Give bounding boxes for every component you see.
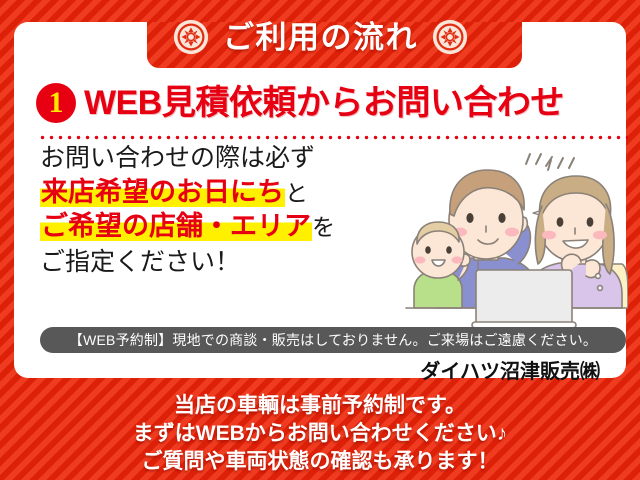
content-card: 1 WEB見積依頼からお問い合わせ お問い合わせの際は必ず 来店希望のお日にちと… (14, 22, 626, 378)
copy-line-3-highlight: ご希望の店舗・エリア (40, 211, 312, 241)
footer-line-2: まずはWEBからお問い合わせください♪ (0, 420, 640, 448)
headline-text: WEB見積依頼からお問い合わせ (84, 86, 564, 120)
notice-text: 【WEB予約制】現地での商談・販売はしておりません。ご来場はご遠慮ください。 (69, 333, 597, 347)
copy-line-4: ご指定ください！ (40, 250, 400, 275)
web-reservation-notice: 【WEB予約制】現地での商談・販売はしておりません。ご来場はご遠慮ください。 (40, 327, 626, 353)
footer-line-3: ご質問や車両状態の確認も承ります！ (0, 448, 640, 476)
wheel-icon-right (432, 19, 468, 55)
body-copy: お問い合わせの際は必ず 来店希望のお日にちと ご希望の店舗・エリアを ご指定くだ… (40, 146, 400, 275)
footer-line-1: 当店の車輌は事前予約制です。 (0, 392, 640, 420)
headline-row: 1 WEB見積依頼からお問い合わせ (36, 80, 616, 126)
family-at-laptop-illustration (400, 148, 628, 330)
copy-line-1: お問い合わせの際は必ず (40, 146, 400, 171)
copy-line-3: ご希望の店舗・エリアを (40, 213, 400, 240)
promo-banner: 1 WEB見積依頼からお問い合わせ お問い合わせの際は必ず 来店希望のお日にちと… (0, 0, 640, 480)
footer-message: 当店の車輌は事前予約制です。 まずはWEBからお問い合わせください♪ ご質問や車… (0, 392, 640, 476)
step-number-label: 1 (49, 88, 64, 118)
header-tab: ご利用の流れ (133, 8, 508, 66)
dotted-divider (38, 135, 628, 140)
copy-line-3-tail: を (312, 214, 335, 240)
copy-line-2: 来店希望のお日にちと (40, 179, 400, 206)
copy-line-2-tail: と (285, 180, 308, 206)
wheel-icon-left (173, 19, 209, 55)
step-number-badge: 1 (36, 83, 76, 123)
shop-name: ダイハツ沼津販売㈱ (420, 362, 600, 382)
header-title: ご利用の流れ (223, 22, 418, 53)
copy-line-2-highlight: 来店希望のお日にち (40, 177, 285, 207)
